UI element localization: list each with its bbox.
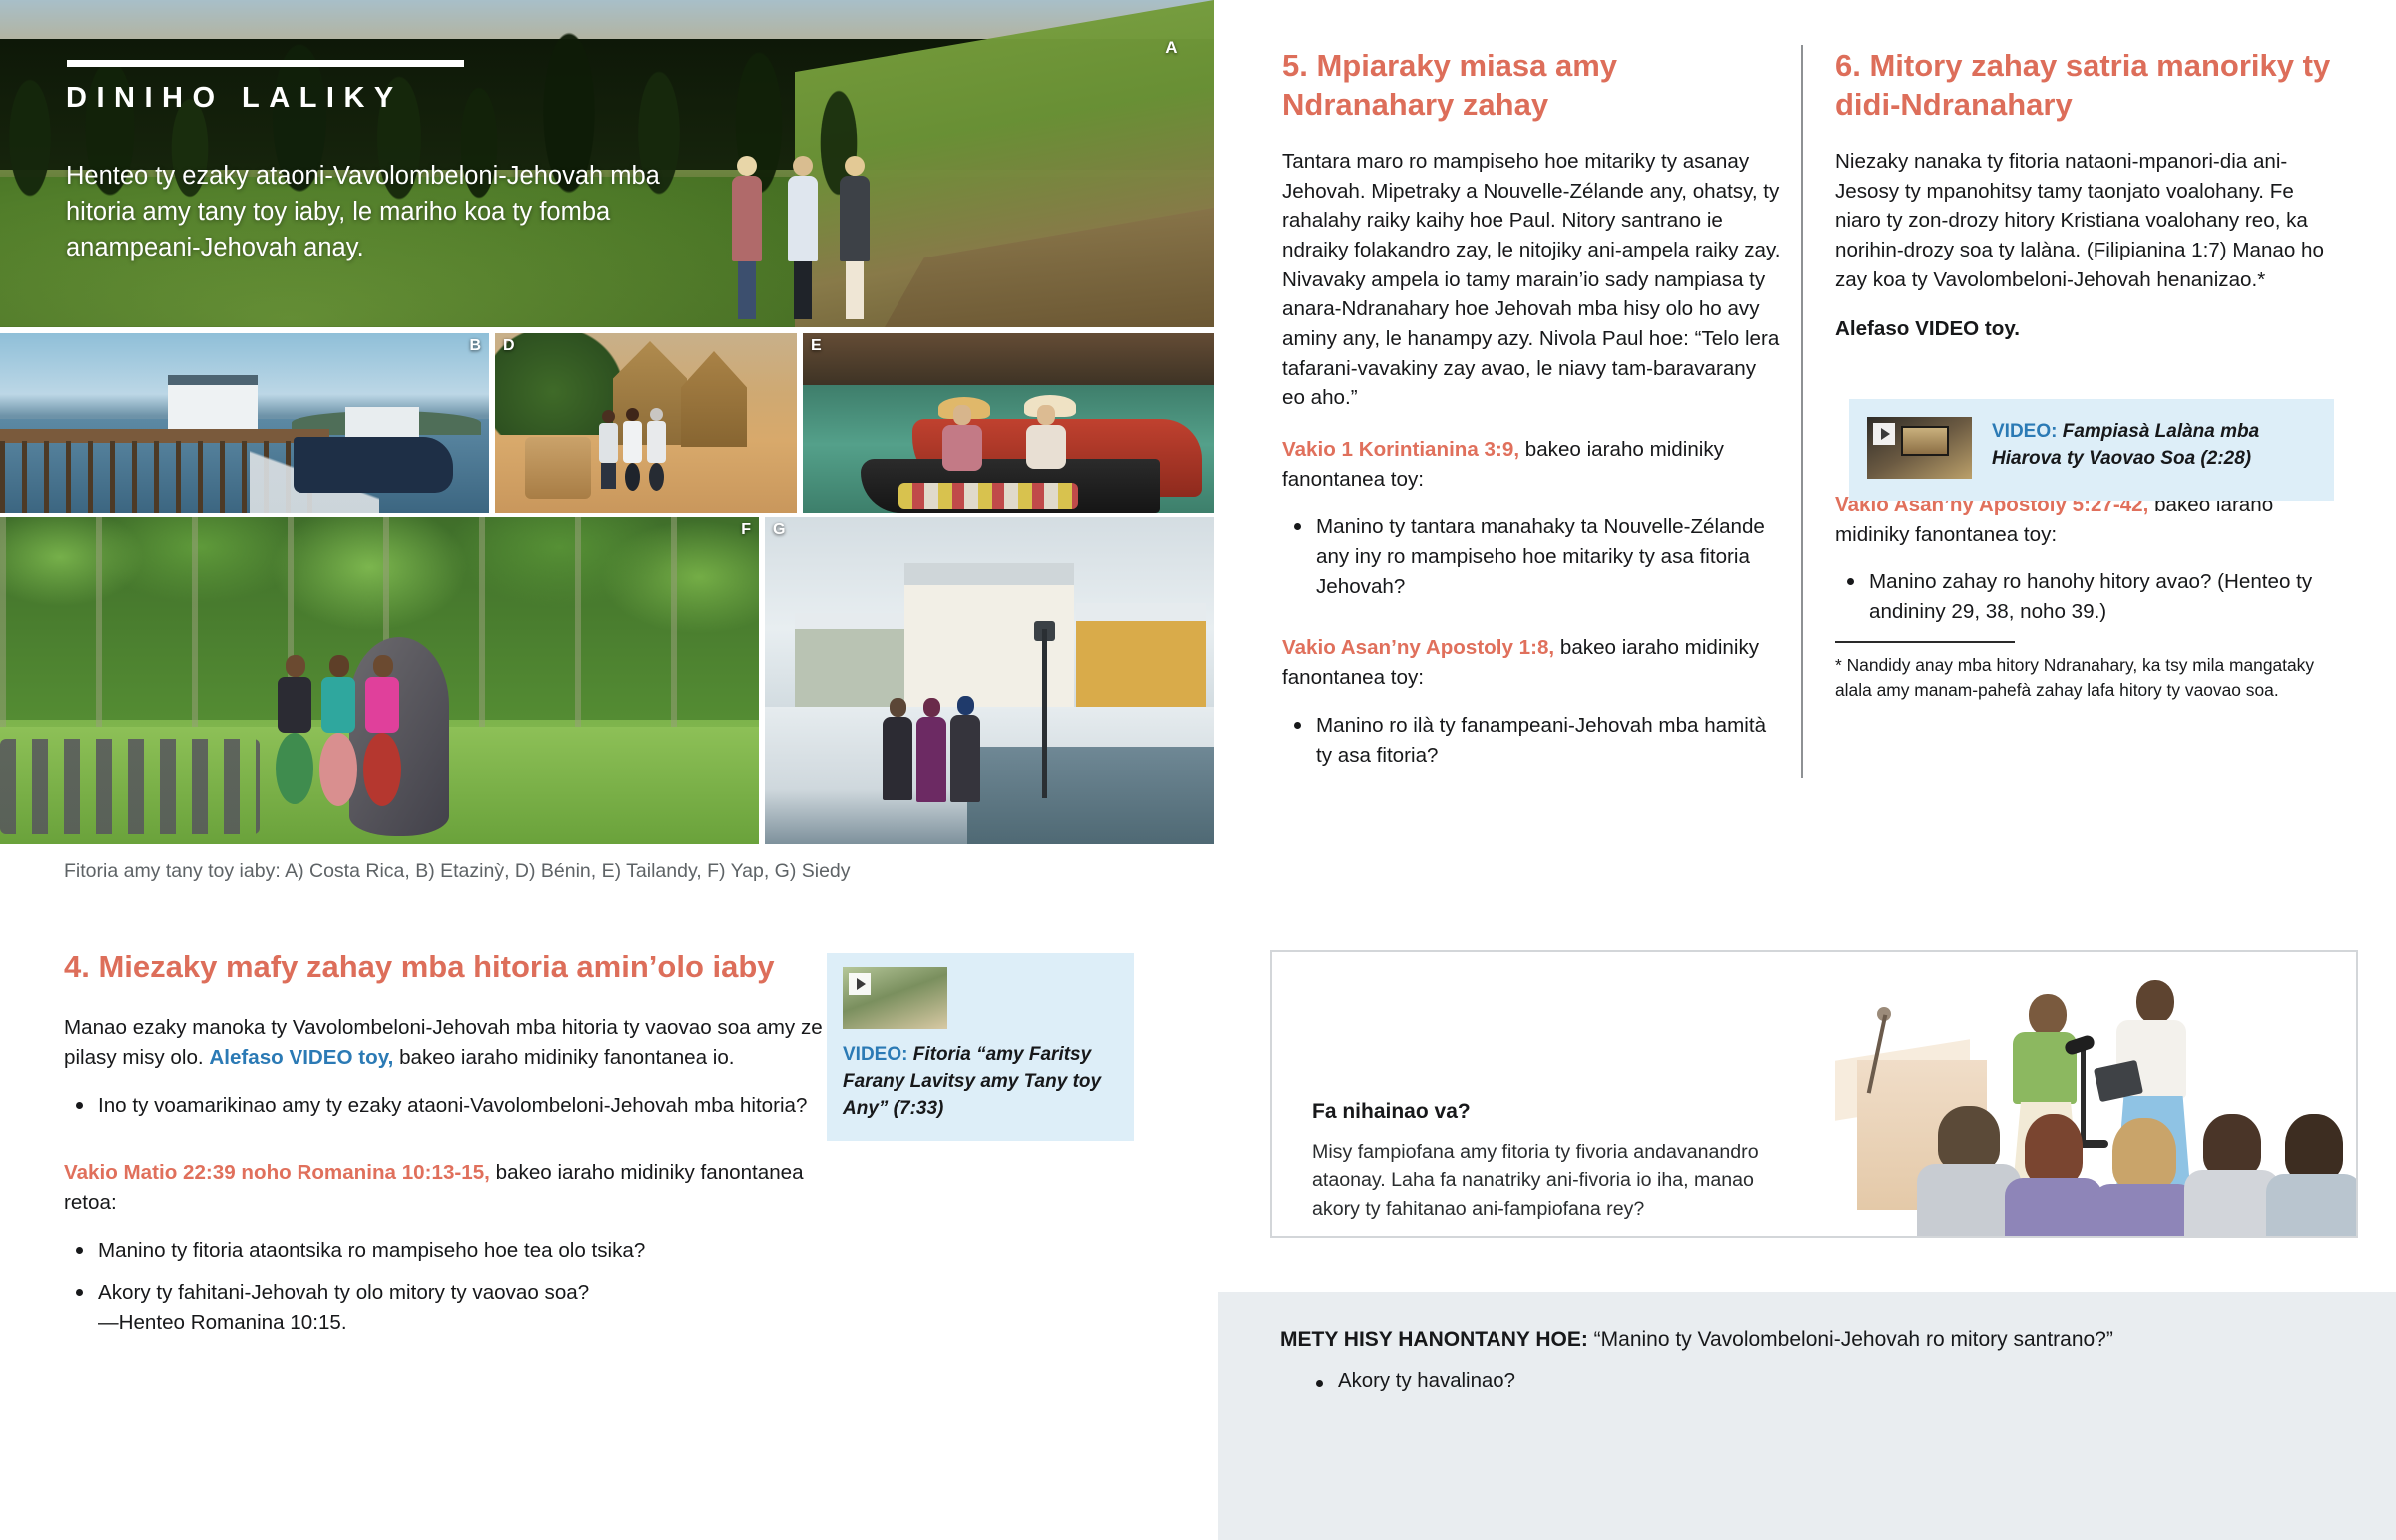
section-6-footnote: * Nandidy anay mba hitory Ndranahary, ka…	[1835, 653, 2334, 701]
section-4-paragraph-post: bakeo iaraho midiniky fanontanea io.	[393, 1046, 734, 1069]
list-item: Manino ty tantara manahaky ta Nouvelle-Z…	[1282, 512, 1781, 602]
did-you-know-heading: Fa nihainao va?	[1312, 1100, 1471, 1124]
section-5-citation-line-2: Vakio Asan’ny Apostoly 1:8, bakeo iaraho…	[1282, 633, 1781, 692]
page-root: A DINIHO LALIKY Henteo ty ezaky ataoni-V…	[0, 0, 2396, 1540]
section-4-question-list-1: Ino ty voamarikinao amy ty ezaky ataoni-…	[64, 1091, 823, 1121]
photo-label-f: F	[741, 521, 751, 539]
possible-question-lead: METY HISY HANONTANY HOE:	[1280, 1328, 1588, 1351]
hero-kicker: DINIHO LALIKY	[66, 82, 403, 115]
section-6-paragraph: Niezaky nanaka ty fitoria nataoni-mpanor…	[1835, 147, 2334, 294]
video-label: VIDEO:	[1992, 421, 2057, 442]
possible-question-bar: METY HISY HANONTANY HOE: “Manino ty Vavo…	[1218, 1292, 2396, 1540]
hero-subtitle: Henteo ty ezaky ataoni-Vavolombeloni-Jeh…	[66, 158, 705, 266]
photo-grid-row-2: F G	[0, 517, 1214, 844]
audience-member	[2093, 1118, 2196, 1236]
audience-member	[2005, 1114, 2102, 1236]
section-5-question-list-2: Manino ro ilà ty fanampeani-Jehovah mba …	[1282, 711, 1781, 770]
possible-question-quote: “Manino ty Vavolombeloni-Jehovah ro mito…	[1588, 1328, 2113, 1351]
section-4-video-box-wrap[interactable]: VIDEO: Fitoria “amy Faritsy Farany Lavit…	[827, 953, 1134, 1141]
section-5-citation-line-1: Vakio 1 Korintianina 3:9, bakeo iaraho m…	[1282, 435, 1781, 494]
section-4-paragraph: Manao ezaky manoka ty Vavolombeloni-Jeho…	[64, 1013, 823, 1073]
section-5-question-list-1: Manino ty tantara manahaky ta Nouvelle-Z…	[1282, 512, 1781, 602]
section-5-scripture-cite-1[interactable]: Vakio 1 Korintianina 3:9,	[1282, 438, 1519, 461]
photo-label-g: G	[773, 521, 785, 539]
hero-rule	[67, 60, 464, 67]
section-5-scripture-cite-2[interactable]: Vakio Asan’ny Apostoly 1:8,	[1282, 636, 1554, 659]
column-divider	[1801, 45, 1803, 778]
section-4-video-caption: VIDEO: Fitoria “amy Faritsy Farany Lavit…	[843, 1042, 1118, 1123]
section-6: 6. Mitory zahay satria manoriky ty didi-…	[1835, 46, 2334, 702]
photo-g-sweden: G	[765, 517, 1214, 844]
list-item: Manino ro ilà ty fanampeani-Jehovah mba …	[1282, 711, 1781, 770]
section-6-video-link[interactable]: Alefaso VIDEO toy.	[1835, 314, 2334, 344]
play-icon[interactable]	[849, 973, 871, 995]
section-4-video-link[interactable]: Alefaso VIDEO toy,	[209, 1046, 393, 1069]
section-4-question-list-2: Manino ty fitoria ataontsika ro mampiseh…	[64, 1236, 823, 1338]
photo-label-a: A	[1165, 38, 1178, 58]
list-item: Ino ty voamarikinao amy ty ezaky ataoni-…	[64, 1091, 823, 1121]
hero-figures	[737, 120, 1036, 319]
section-4: 4. Miezaky mafy zahay mba hitoria amin’o…	[64, 948, 823, 1351]
photo-grid-caption: Fitoria amy tany toy iaby: A) Costa Rica…	[64, 860, 1182, 883]
play-icon[interactable]	[1873, 423, 1895, 445]
section-6-video-box[interactable]: VIDEO: Fampiasà Lalàna mba Hiarova ty Va…	[1849, 399, 2334, 501]
did-you-know-box: Fa nihainao va? Misy fampiofana amy fito…	[1270, 950, 2358, 1238]
photo-label-b: B	[469, 337, 481, 355]
video-thumbnail-faritsy-farany[interactable]	[843, 967, 947, 1029]
video-label: VIDEO:	[843, 1044, 907, 1065]
section-4-video-box[interactable]: VIDEO: Fitoria “amy Faritsy Farany Lavit…	[827, 953, 1134, 1141]
photo-label-d: D	[503, 337, 515, 355]
video-thumbnail-fampiasa-lalana[interactable]	[1867, 417, 1972, 479]
photo-f-yap: F	[0, 517, 759, 844]
illustration-meeting-demonstration	[1797, 952, 2356, 1236]
section-4-heading: 4. Miezaky mafy zahay mba hitoria amin’o…	[64, 948, 823, 987]
photo-e-thailand: E	[803, 333, 1214, 513]
section-6-question-list: Manino zahay ro hanohy hitory avao? (Hen…	[1835, 567, 2334, 627]
photo-b-united-states: B	[0, 333, 489, 513]
possible-question-line: METY HISY HANONTANY HOE: “Manino ty Vavo…	[1280, 1328, 2113, 1352]
section-5-paragraph: Tantara maro ro mampiseho hoe mitariky t…	[1282, 147, 1781, 413]
photo-label-e: E	[811, 337, 822, 355]
screen-shape	[1901, 426, 1949, 456]
footnote-rule	[1835, 641, 2015, 643]
section-4-citation-line: Vakio Matio 22:39 noho Romanina 10:13-15…	[64, 1158, 823, 1218]
list-item: Manino ty fitoria ataontsika ro mampiseh…	[64, 1236, 823, 1266]
did-you-know-paragraph: Misy fampiofana amy fitoria ty fivoria a…	[1312, 1138, 1761, 1223]
section-6-video-box-wrap[interactable]: VIDEO: Fampiasà Lalàna mba Hiarova ty Va…	[1849, 399, 2334, 501]
possible-question-list: Akory ty havalinao?	[1304, 1370, 1515, 1393]
list-item: Manino zahay ro hanohy hitory avao? (Hen…	[1835, 567, 2334, 627]
section-6-heading: 6. Mitory zahay satria manoriky ty didi-…	[1835, 46, 2334, 124]
section-4-scripture-cite[interactable]: Vakio Matio 22:39 noho Romanina 10:13-15…	[64, 1161, 490, 1184]
section-5: 5. Mpiaraky miasa amy Ndranahary zahay T…	[1282, 46, 1781, 783]
photo-grid-row-1: B D	[0, 333, 1214, 513]
audience-member	[2266, 1114, 2358, 1236]
section-6-video-caption: VIDEO: Fampiasà Lalàna mba Hiarova ty Va…	[1992, 419, 2316, 473]
list-item: Akory ty havalinao?	[1304, 1370, 1515, 1393]
section-5-heading: 5. Mpiaraky miasa amy Ndranahary zahay	[1282, 46, 1781, 124]
photo-d-benin: D	[495, 333, 797, 513]
hero-photo-costa-rica: A DINIHO LALIKY Henteo ty ezaky ataoni-V…	[0, 0, 1214, 327]
list-item: Akory ty fahitani-Jehovah ty olo mitory …	[64, 1279, 823, 1338]
